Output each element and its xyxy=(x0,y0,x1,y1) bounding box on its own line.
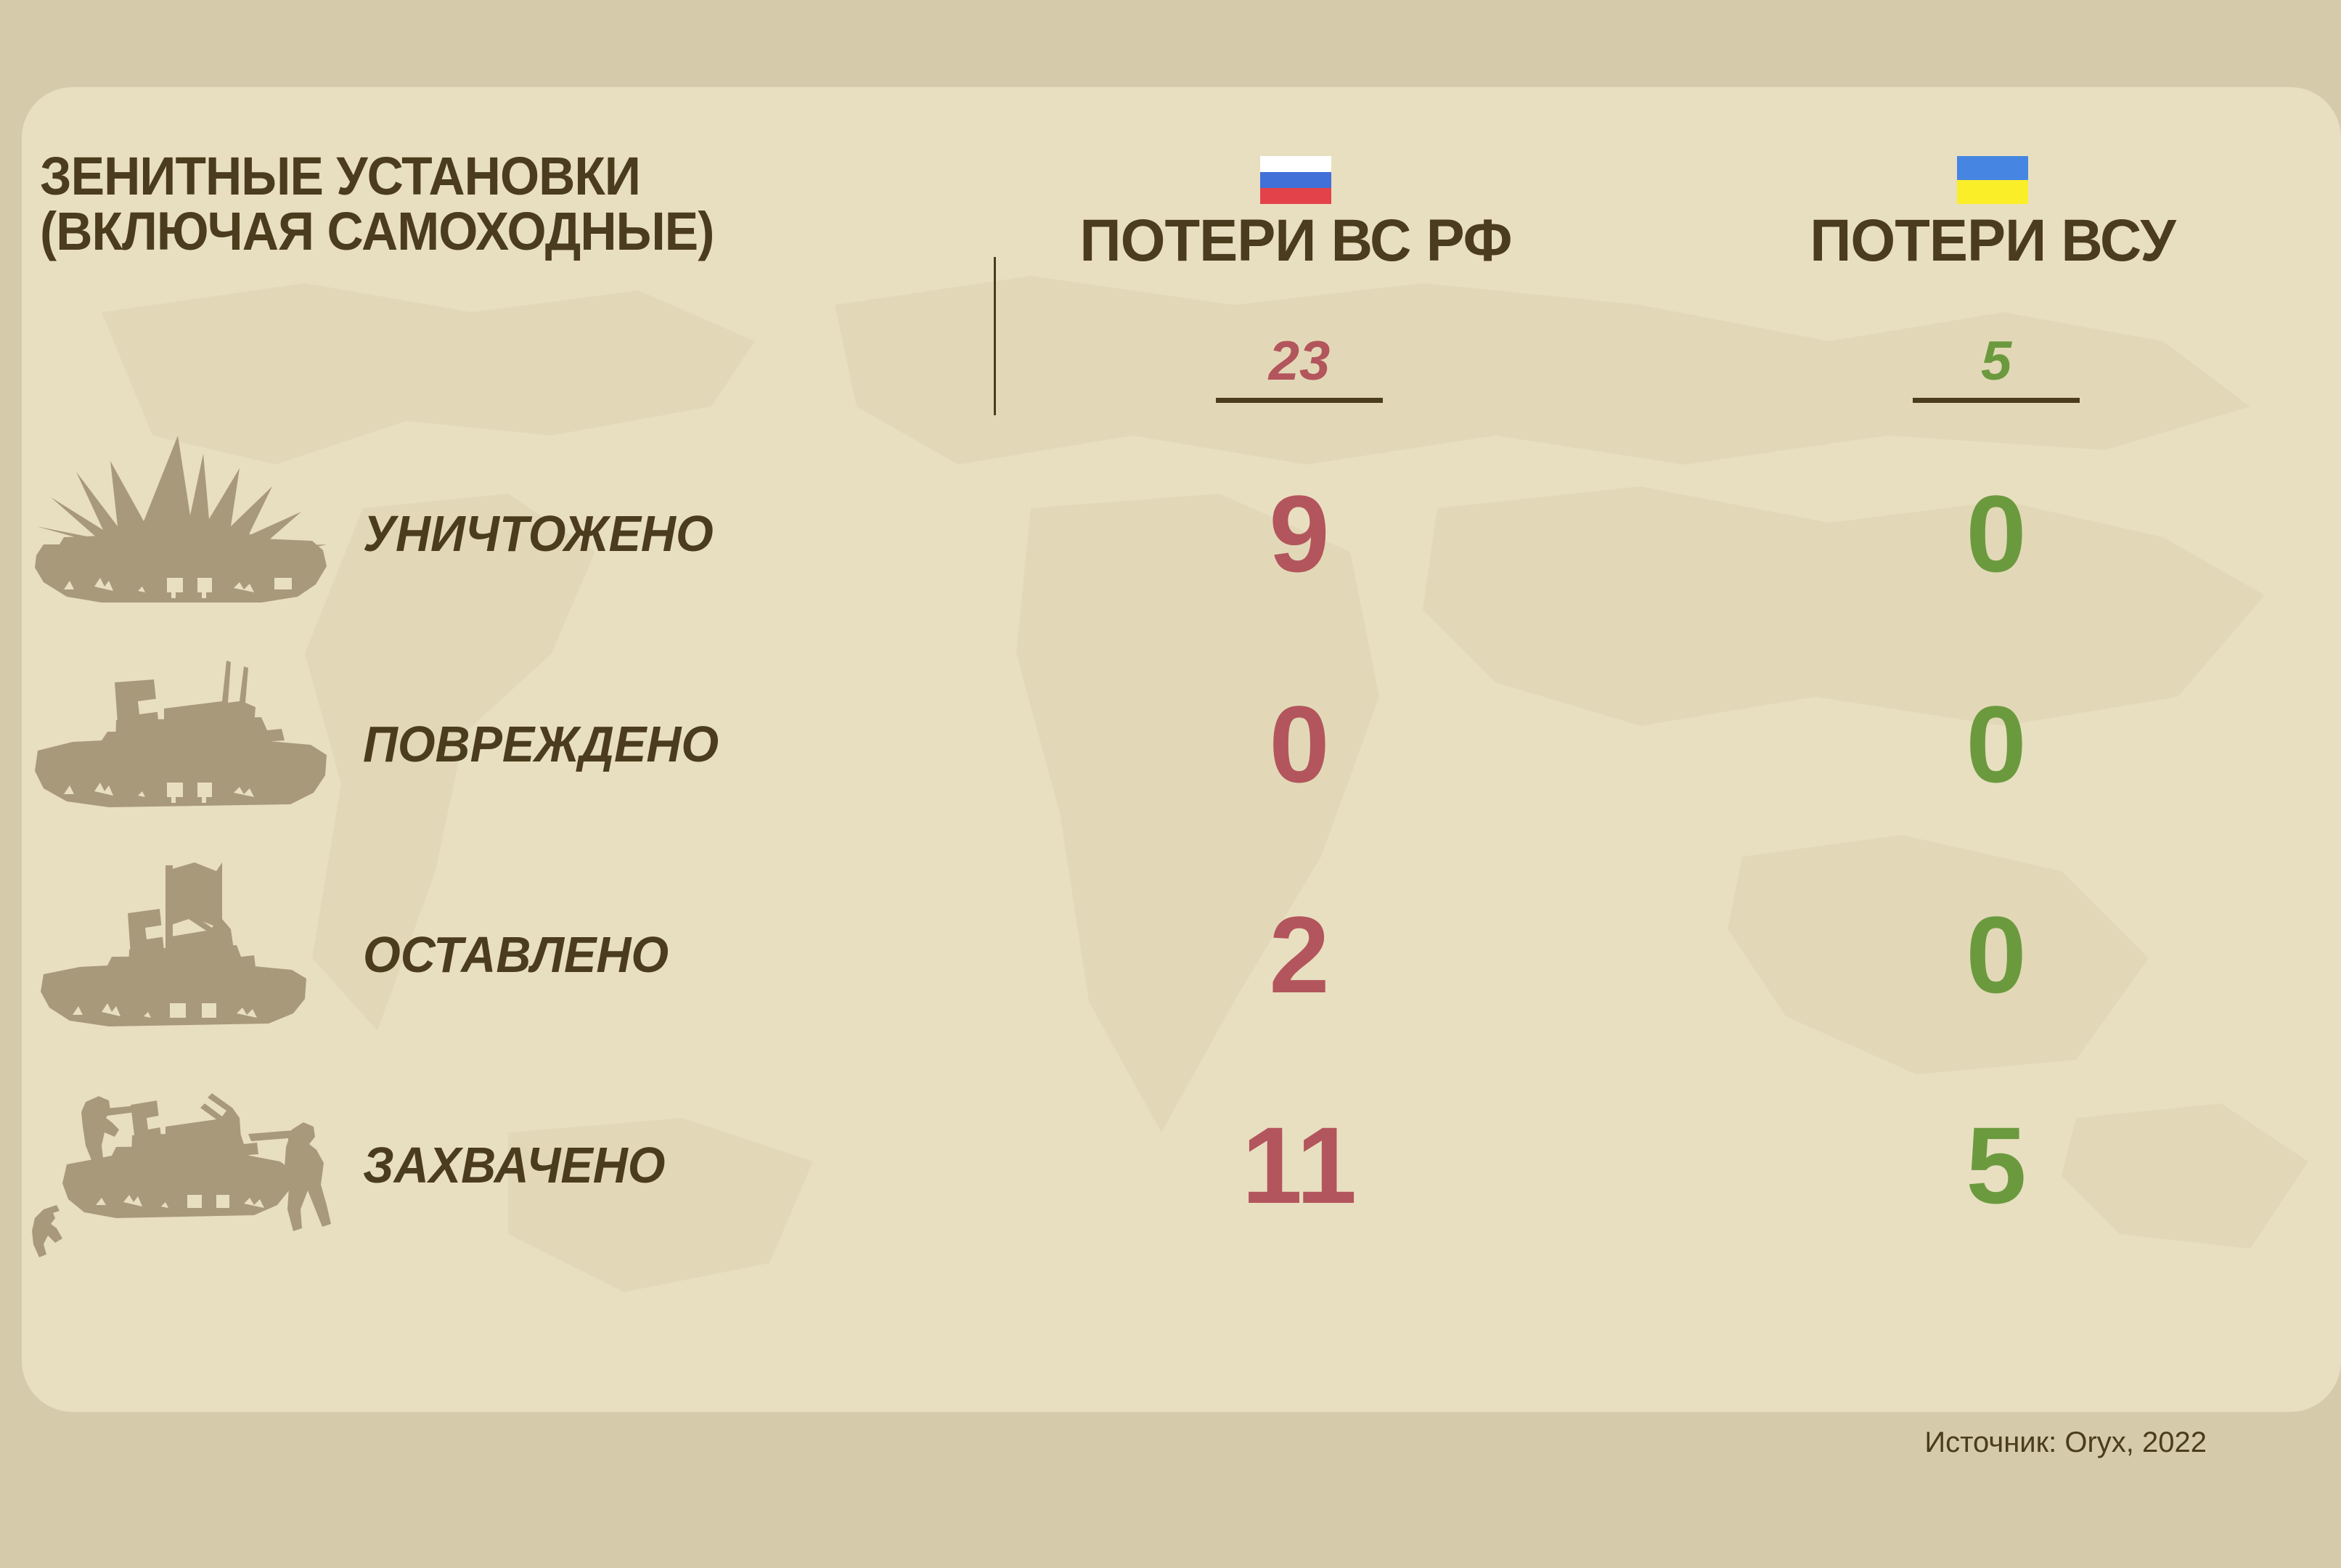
flag-ukraine-icon xyxy=(1957,156,2028,204)
table-row: ЗАХВАЧЕНО 11 5 xyxy=(22,1060,2341,1270)
flag-russia-icon xyxy=(1260,156,1331,204)
row-label-captured: ЗАХВАЧЕНО xyxy=(363,1060,666,1270)
header: ЗЕНИТНЫЕ УСТАНОВКИ (ВКЛЮЧАЯ САМОХОДНЫЕ) … xyxy=(22,87,2341,334)
total-ukraine: 5 xyxy=(1793,334,2199,403)
source-attribution: Источник: Oryx, 2022 xyxy=(1924,1426,2207,1459)
row-value-russia-captured: 11 xyxy=(1096,1060,1503,1270)
total-ukraine-value: 5 xyxy=(1793,334,2199,393)
column-header-ukraine: ПОТЕРИ ВСУ xyxy=(1691,156,2294,271)
row-value-russia-damaged: 0 xyxy=(1096,639,1503,849)
aa-vehicle-damaged-icon xyxy=(22,639,341,849)
total-russia-rule xyxy=(1216,398,1383,403)
column-header-russia: ПОТЕРИ ВС РФ xyxy=(1002,156,1590,271)
row-value-ukraine-destroyed: 0 xyxy=(1793,428,2199,639)
page-title-line-2: (ВКЛЮЧАЯ САМОХОДНЫЕ) xyxy=(40,204,920,259)
row-value-ukraine-abandoned: 0 xyxy=(1793,849,2199,1060)
table-row: ПОВРЕЖДЕНО 0 0 xyxy=(22,639,2341,849)
aa-vehicle-flag-icon xyxy=(22,849,341,1060)
row-value-russia-abandoned: 2 xyxy=(1096,849,1503,1060)
row-value-ukraine-damaged: 0 xyxy=(1793,639,2199,849)
row-value-russia-destroyed: 9 xyxy=(1096,428,1503,639)
column-header-ukraine-label: ПОТЕРИ ВСУ xyxy=(1700,211,2284,271)
total-russia: 23 xyxy=(1096,334,1503,403)
infographic-panel: ЗЕНИТНЫЕ УСТАНОВКИ (ВКЛЮЧАЯ САМОХОДНЫЕ) … xyxy=(22,87,2341,1412)
total-ukraine-rule xyxy=(1913,398,2080,403)
row-value-ukraine-captured: 5 xyxy=(1793,1060,2199,1270)
header-divider xyxy=(994,257,996,415)
page-title-line-1: ЗЕНИТНЫЕ УСТАНОВКИ xyxy=(40,149,920,204)
table-row: УНИЧТОЖЕНО 9 0 xyxy=(22,428,2341,639)
aa-vehicle-soldiers-icon xyxy=(22,1060,341,1270)
table-row: ОСТАВЛЕНО 2 0 xyxy=(22,849,2341,1060)
row-label-damaged: ПОВРЕЖДЕНО xyxy=(363,639,719,849)
page-title: ЗЕНИТНЫЕ УСТАНОВКИ (ВКЛЮЧАЯ САМОХОДНЫЕ) xyxy=(40,149,920,259)
column-header-russia-label: ПОТЕРИ ВС РФ xyxy=(1010,211,1581,271)
row-label-destroyed: УНИЧТОЖЕНО xyxy=(363,428,714,639)
tank-explosion-icon xyxy=(22,428,341,639)
total-russia-value: 23 xyxy=(1096,334,1503,393)
row-label-abandoned: ОСТАВЛЕНО xyxy=(363,849,669,1060)
